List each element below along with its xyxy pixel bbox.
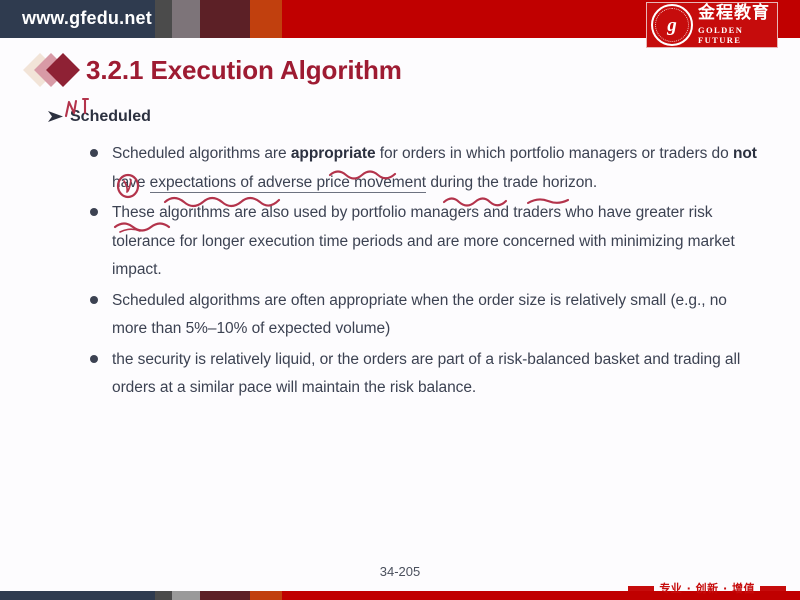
- bullet-dot-icon: [90, 149, 98, 157]
- list-item: These algorithms are also used by portfo…: [88, 199, 760, 285]
- page-title: 3.2.1 Execution Algorithm: [86, 55, 402, 86]
- footer-tagline: 专业 · 创新 · 增值: [628, 580, 786, 596]
- bullet-text-2: These algorithms are also used by portfo…: [112, 199, 760, 285]
- color-segment-dark-gray: [155, 0, 172, 38]
- color-segment-medium-gray: [172, 591, 200, 600]
- color-segment-dark-gray: [155, 591, 172, 600]
- list-item: the security is relatively liquid, or th…: [88, 346, 760, 403]
- arrow-right-icon: [46, 106, 68, 126]
- color-segment-maroon: [200, 0, 250, 38]
- logo-english-name: GOLDEN FUTURE: [698, 25, 777, 45]
- title-row: 3.2.1 Execution Algorithm: [28, 50, 402, 90]
- bullet-text-3: Scheduled algorithms are often appropria…: [112, 287, 760, 344]
- subhead-label: Scheduled: [70, 108, 151, 126]
- bullet-text-1: Scheduled algorithms are appropriate for…: [112, 140, 760, 197]
- bullet-list: Scheduled algorithms are appropriate for…: [88, 140, 760, 405]
- logo-chinese-name: 金程教育: [698, 5, 777, 23]
- color-segment-maroon: [200, 591, 250, 600]
- tagline-text: 专业 · 创新 · 增值: [659, 580, 755, 596]
- logo-seal-ring: [655, 8, 689, 42]
- subhead-row: Scheduled: [46, 106, 151, 126]
- color-segment-medium-gray: [172, 0, 200, 38]
- logo-text-block: 金程教育 GOLDEN FUTURE: [698, 5, 777, 45]
- tagline-bar-left: [628, 586, 654, 591]
- color-segment-orange: [250, 0, 282, 38]
- brand-logo: g 金程教育 GOLDEN FUTURE: [646, 2, 778, 48]
- diamond-decoration-icon: [28, 50, 86, 90]
- site-url-label: www.gfedu.net: [22, 8, 152, 29]
- color-segment-orange: [250, 591, 282, 600]
- list-item: Scheduled algorithms are appropriate for…: [88, 140, 760, 197]
- tagline-bar-right: [760, 586, 786, 591]
- logo-seal-icon: g: [651, 4, 693, 46]
- bullet-text-4: the security is relatively liquid, or th…: [112, 346, 760, 403]
- bullet-dot-icon: [90, 208, 98, 216]
- bullet-dot-icon: [90, 355, 98, 363]
- color-segment-navy: [0, 591, 155, 600]
- list-item: Scheduled algorithms are often appropria…: [88, 287, 760, 344]
- slide-canvas: www.gfedu.net g 金程教育 GOLDEN FUTURE 3.2.1…: [0, 0, 800, 600]
- page-number: 34-205: [0, 564, 800, 579]
- bullet-dot-icon: [90, 296, 98, 304]
